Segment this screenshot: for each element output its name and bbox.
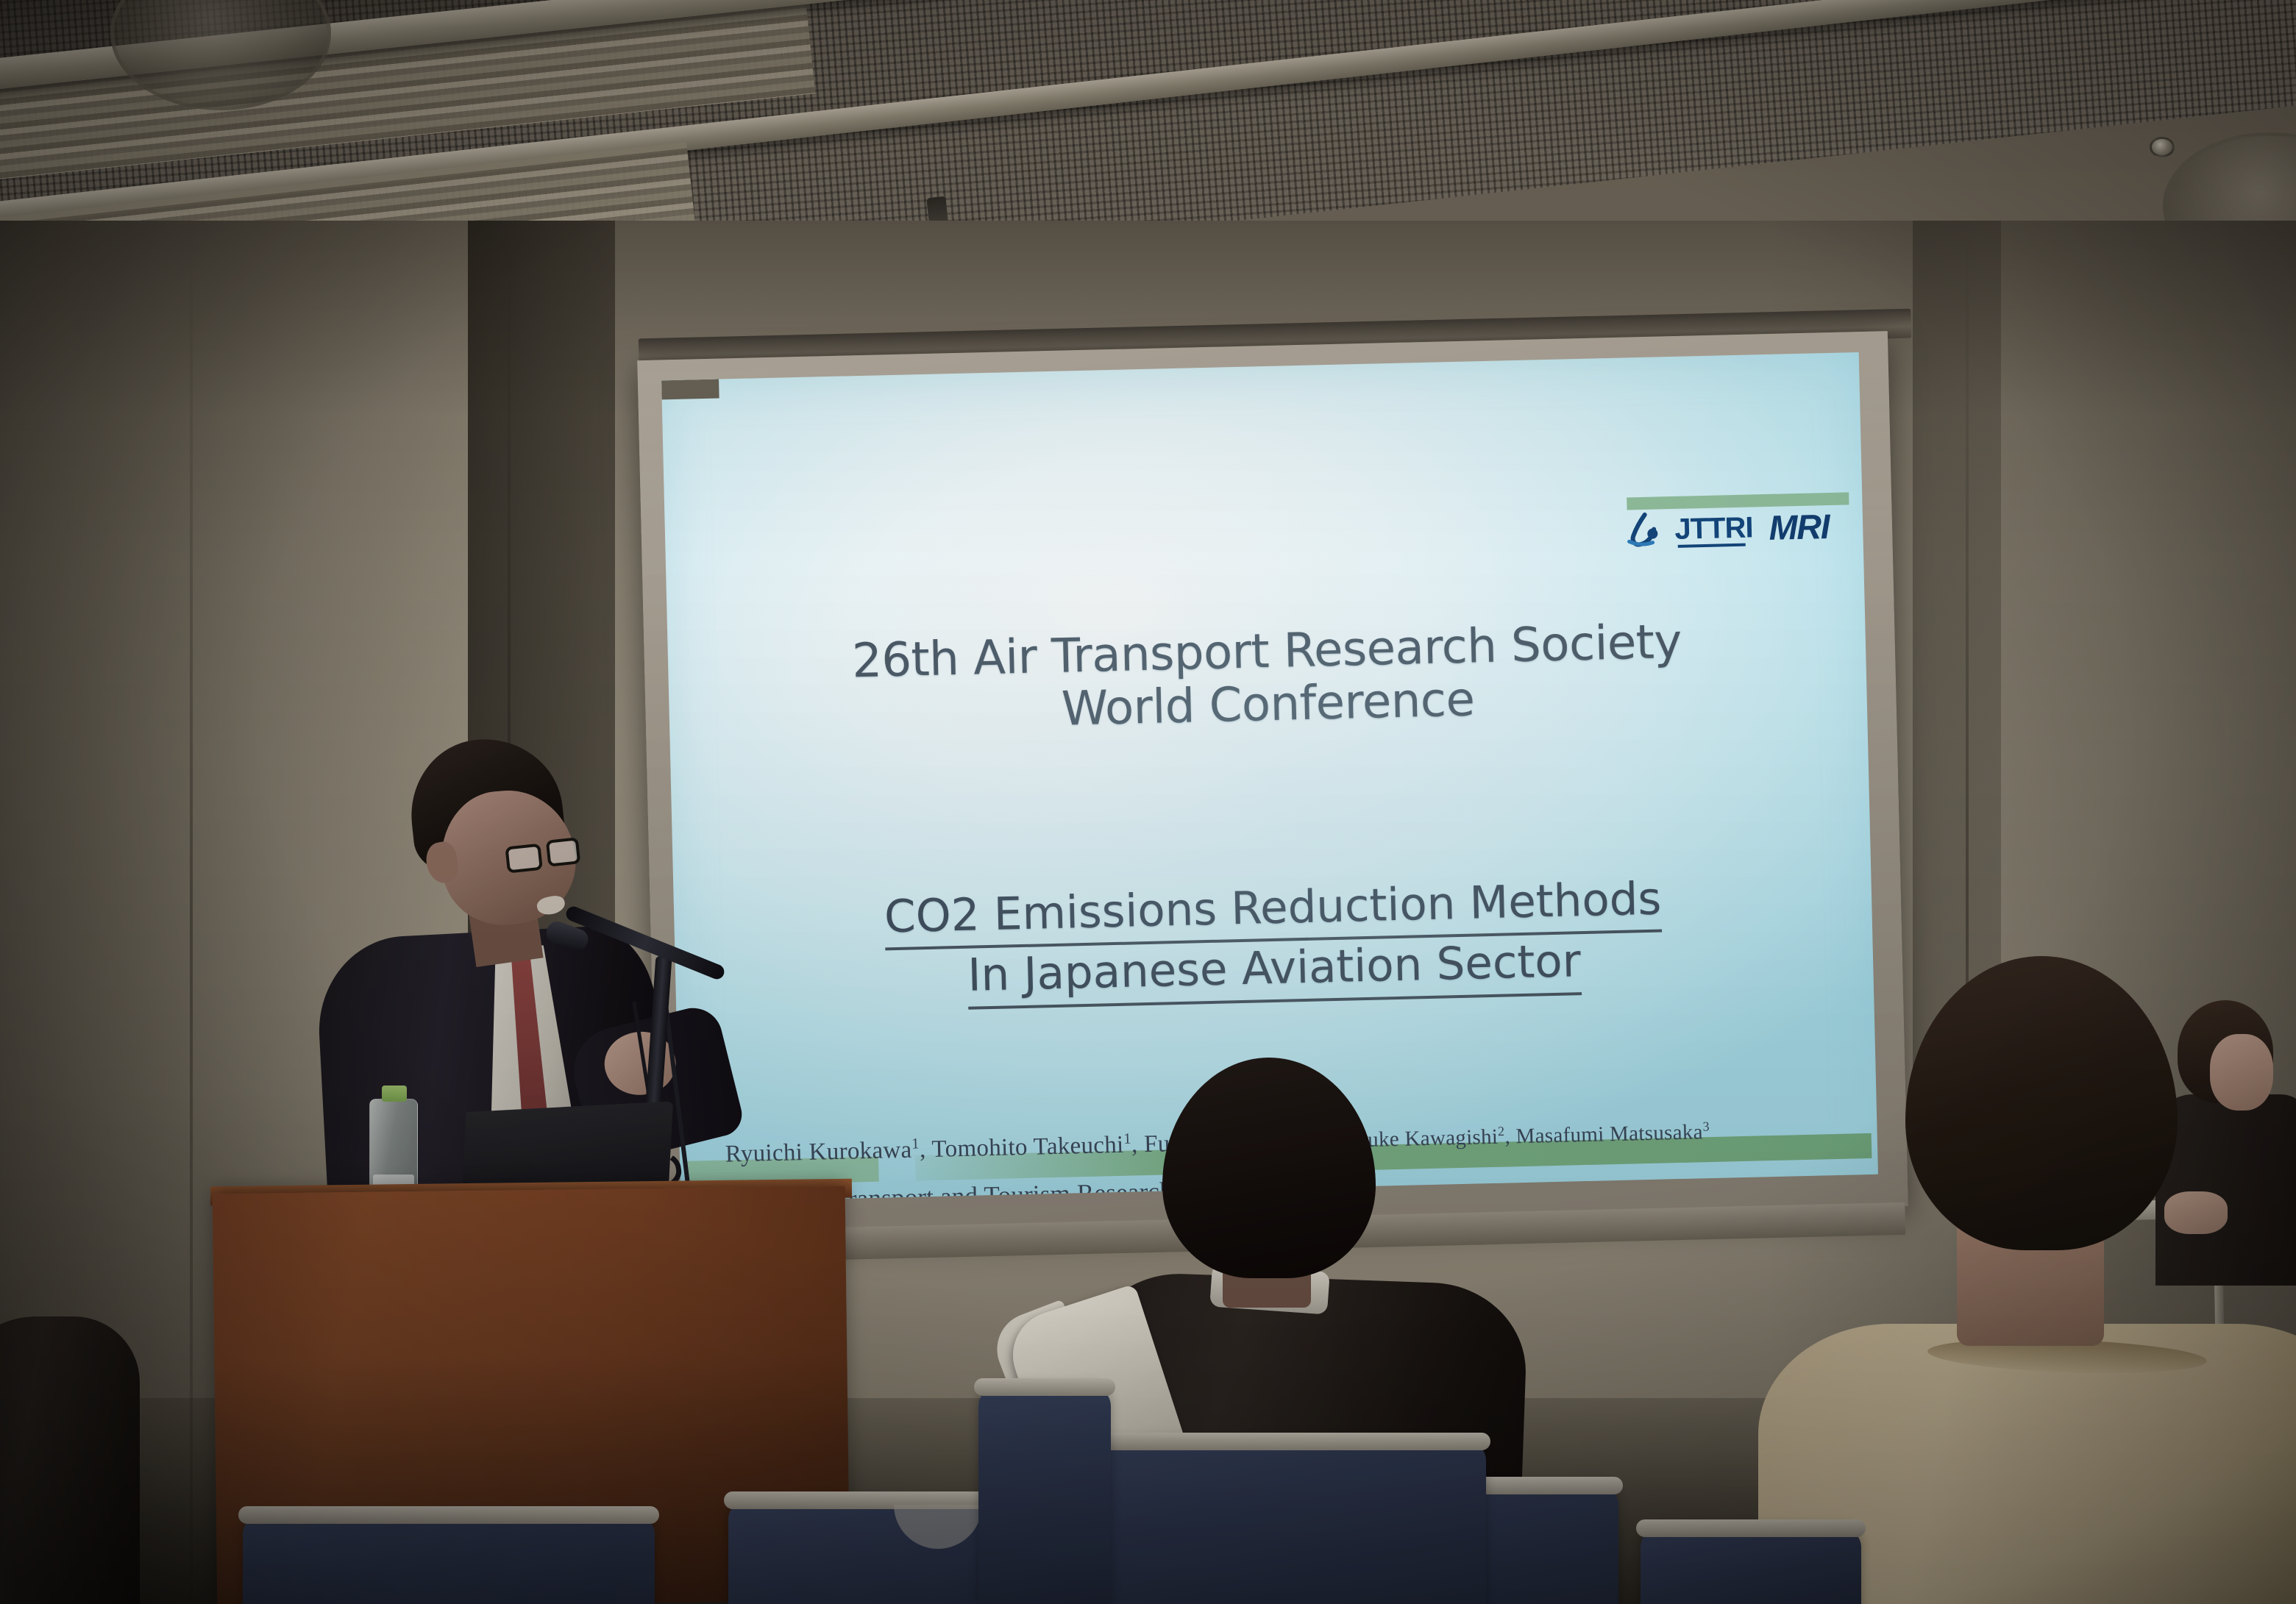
chair-row-front-1 bbox=[243, 1515, 655, 1604]
chair-backrest-dimple bbox=[894, 1505, 982, 1549]
slide-paper-title: CO2 Emissions Reduction Methods In Japan… bbox=[674, 867, 1874, 1016]
slide-author: Ryuichi Kurokawa1 bbox=[725, 1136, 920, 1167]
audience-right-head bbox=[1905, 956, 2178, 1250]
jttri-emblem-icon bbox=[1623, 511, 1663, 549]
chair-row-mid-left bbox=[978, 1387, 1111, 1604]
glasses-lens-left bbox=[505, 844, 543, 874]
photograph-scene: JTTRI MRI 26th Air Transport Research So… bbox=[0, 0, 2296, 1604]
audience-member-right bbox=[1824, 956, 2296, 1604]
glasses-lens-right bbox=[546, 837, 581, 866]
jttri-logo-text: JTTRI bbox=[1674, 513, 1753, 543]
audience-member-left-edge bbox=[0, 1316, 140, 1604]
author-separator: , bbox=[920, 1136, 932, 1163]
audience-center-head bbox=[1162, 1058, 1376, 1278]
slide-conference-title: 26th Air Transport Research Society Worl… bbox=[667, 611, 1867, 746]
chair-row-front-4 bbox=[1641, 1528, 1861, 1604]
mri-logo-text: MRI bbox=[1769, 509, 1830, 545]
ceiling-downlight-2-icon bbox=[2150, 137, 2175, 157]
slide-author: Masafumi Matsusaka3 bbox=[1515, 1120, 1710, 1148]
author-affiliation-marker: 1 bbox=[911, 1136, 920, 1152]
author-affiliation-marker: 3 bbox=[1702, 1119, 1710, 1133]
slide-logo-row: JTTRI MRI bbox=[1623, 507, 1830, 549]
